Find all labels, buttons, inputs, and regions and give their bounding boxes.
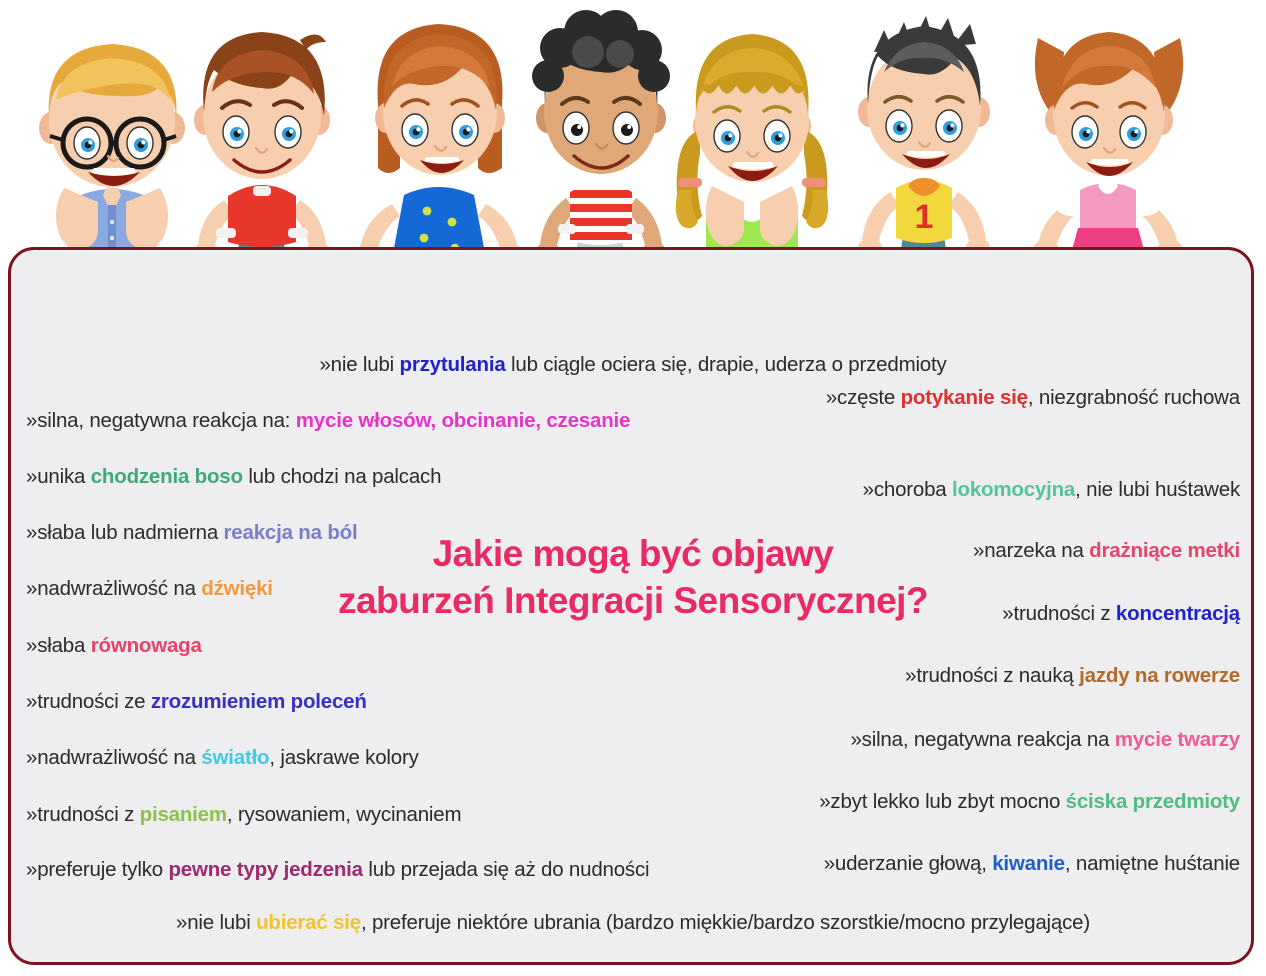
symptom-highlight: zrozumieniem poleceń bbox=[151, 690, 367, 713]
symptom-highlight: pisaniem bbox=[140, 803, 227, 826]
symptom-item-right-7: »uderzanie głową, kiwanie, namiętne huśt… bbox=[824, 852, 1240, 876]
page-title: Jakie mogą być objawy zaburzeń Integracj… bbox=[0, 530, 1266, 624]
symptom-prefix: »trudności ze bbox=[26, 690, 151, 713]
symptom-item-top: »nie lubi przytulania lub ciągle ociera … bbox=[0, 353, 1266, 377]
kid-boy-with-glasses bbox=[39, 44, 185, 251]
symptom-highlight: mycie twarzy bbox=[1115, 728, 1240, 751]
page-title-line-2: zaburzeń Integracji Sensorycznej? bbox=[0, 577, 1266, 624]
page-title-line-1: Jakie mogą być objawy bbox=[0, 530, 1266, 577]
symptom-highlight: ubierać się bbox=[256, 911, 361, 934]
symptom-item-left-0: »silna, negatywna reakcja na: mycie włos… bbox=[26, 409, 630, 433]
symptom-suffix: lub ciągle ociera się, drapie, uderza o … bbox=[506, 353, 947, 376]
symptom-highlight: lokomocyjna bbox=[952, 478, 1075, 501]
symptom-prefix: »nadwrażliwość na bbox=[26, 746, 201, 769]
symptom-item-right-1: »choroba lokomocyjna, nie lubi huśtawek bbox=[863, 478, 1240, 502]
symptom-prefix: »częste bbox=[826, 386, 901, 409]
symptom-suffix: , jaskrawe kolory bbox=[269, 746, 418, 769]
symptom-item-left-5: »trudności ze zrozumieniem poleceń bbox=[26, 690, 367, 714]
symptom-item-left-8: »preferuje tylko pewne typy jedzenia lub… bbox=[26, 858, 649, 882]
symptom-prefix: »zbyt lekko lub zbyt mocno bbox=[819, 790, 1065, 813]
symptom-prefix: »choroba bbox=[863, 478, 952, 501]
symptom-prefix: »trudności z nauką bbox=[905, 664, 1079, 687]
symptom-prefix: »nie lubi bbox=[176, 911, 256, 934]
jersey-number: 1 bbox=[915, 198, 934, 236]
symptom-prefix: »słaba bbox=[26, 634, 91, 657]
symptom-item-right-4: »trudności z nauką jazdy na rowerze bbox=[905, 664, 1240, 688]
symptom-suffix: , nie lubi huśtawek bbox=[1075, 478, 1240, 501]
symptom-highlight: mycie włosów, obcinanie, czesanie bbox=[296, 409, 630, 432]
symptom-suffix: , namiętne huśtanie bbox=[1065, 852, 1240, 875]
symptom-highlight: jazdy na rowerze bbox=[1079, 664, 1240, 687]
symptom-highlight: ściska przedmioty bbox=[1066, 790, 1240, 813]
symptom-item-right-6: »zbyt lekko lub zbyt mocno ściska przedm… bbox=[819, 790, 1240, 814]
kid-girl-braids bbox=[676, 34, 829, 252]
symptom-item-left-6: »nadwrażliwość na światło, jaskrawe kolo… bbox=[26, 746, 419, 770]
symptom-suffix: lub przejada się aż do nudności bbox=[363, 858, 650, 881]
symptom-prefix: »uderzanie głową, bbox=[824, 852, 993, 875]
symptom-highlight: chodzenia boso bbox=[91, 465, 243, 488]
symptom-highlight: przytulania bbox=[400, 353, 506, 376]
symptom-suffix: , preferuje niektóre ubrania (bardzo mię… bbox=[361, 911, 1090, 934]
symptom-prefix: »nie lubi bbox=[319, 353, 399, 376]
symptom-highlight: światło bbox=[201, 746, 269, 769]
symptom-item-left-1: »unika chodzenia boso lub chodzi na palc… bbox=[26, 465, 441, 489]
symptom-suffix: , niezgrabność ruchowa bbox=[1028, 386, 1240, 409]
symptom-item-left-7: »trudności z pisaniem, rysowaniem, wycin… bbox=[26, 803, 461, 827]
symptom-highlight: równowaga bbox=[91, 634, 202, 657]
symptom-highlight: kiwanie bbox=[992, 852, 1065, 875]
symptom-prefix: »trudności z bbox=[26, 803, 140, 826]
symptom-prefix: »preferuje tylko bbox=[26, 858, 168, 881]
infographic-canvas: 1 bbox=[0, 0, 1266, 976]
symptom-item-right-0: »częste potykanie się, niezgrabność ruch… bbox=[826, 386, 1240, 410]
symptom-highlight: pewne typy jedzenia bbox=[168, 858, 362, 881]
symptom-suffix: , rysowaniem, wycinaniem bbox=[227, 803, 461, 826]
symptom-prefix: »silna, negatywna reakcja na: bbox=[26, 409, 296, 432]
symptom-item-bottom: »nie lubi ubierać się, preferuje niektór… bbox=[0, 911, 1266, 935]
symptom-item-left-4: »słaba równowaga bbox=[26, 634, 202, 658]
symptom-prefix: »silna, negatywna reakcja na bbox=[850, 728, 1114, 751]
symptom-highlight: potykanie się bbox=[901, 386, 1028, 409]
symptom-item-right-5: »silna, negatywna reakcja na mycie twarz… bbox=[850, 728, 1240, 752]
symptom-suffix: lub chodzi na palcach bbox=[243, 465, 441, 488]
symptom-prefix: »unika bbox=[26, 465, 91, 488]
